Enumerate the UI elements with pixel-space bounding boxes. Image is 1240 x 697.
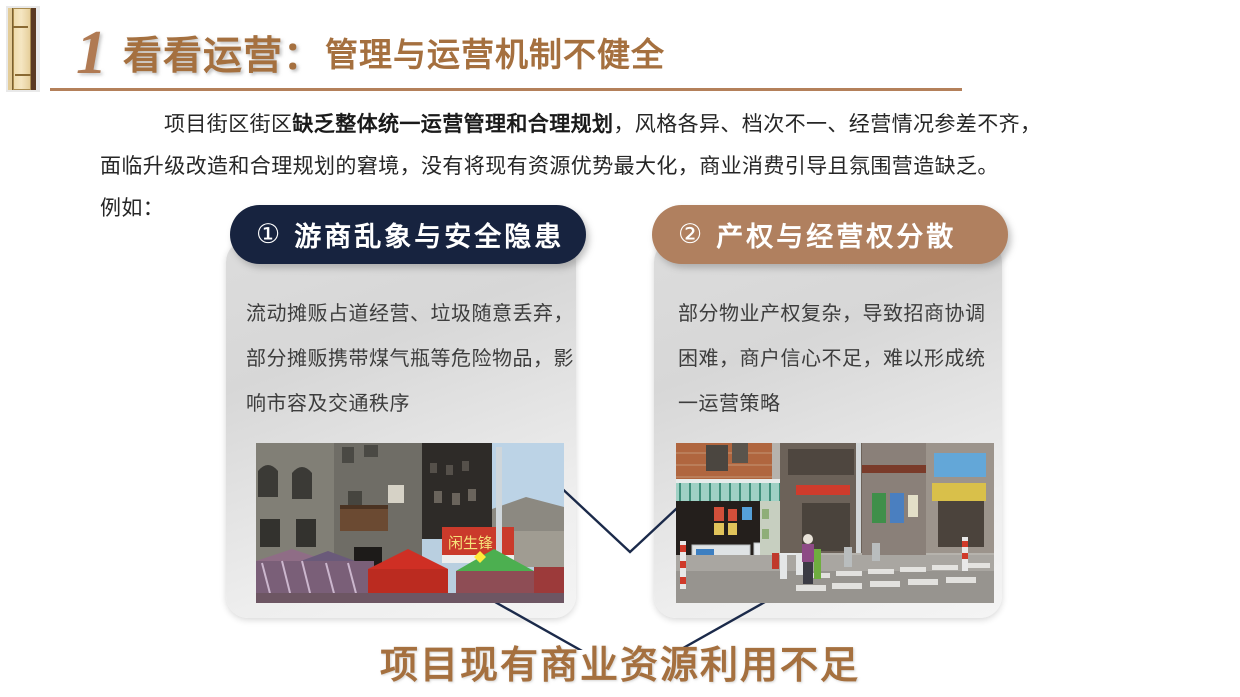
paragraph-line-1: 项目街区街区缺乏整体统一运营管理和合理规划，风格各异、档次不一、经营情况参差不齐…: [100, 104, 1190, 146]
bookmark-ornament-icon: [6, 6, 42, 92]
card-2-photo: [676, 443, 994, 603]
paragraph-line1-a: 项目街区街区: [164, 113, 292, 136]
card-1-heading: 游商乱象与安全隐患: [294, 215, 564, 254]
card-1-header[interactable]: ① 游商乱象与安全隐患: [230, 205, 586, 264]
slide-root: 1 看看运营： 管理与运营机制不健全 项目街区街区缺乏整体统一运营管理和合理规划…: [0, 0, 1240, 697]
bookmark-line-bottom: [15, 74, 31, 76]
conclusion-text: 项目现有商业资源利用不足: [0, 634, 1240, 689]
card-1-body-text: 流动摊贩占道经营、垃圾随意丢弃，部分摊贩携带煤气瓶等危险物品，影响市容及交通秩序: [246, 292, 576, 427]
paragraph-line1-c: ，风格各异、档次不一、经营情况参差不齐，: [613, 113, 1041, 136]
section-numeral: 1: [76, 24, 123, 82]
paragraph-line-2: 面临升级改造和合理规划的窘境，没有将现有资源优势最大化，商业消费引导且氛围营造缺…: [100, 146, 1190, 188]
svg-text:闲生锋: 闲生锋: [448, 534, 493, 552]
card-2-body-text: 部分物业产权复杂，导致招商协调困难，商户信心不足，难以形成统一运营策略: [678, 292, 996, 427]
card-1-number: ①: [230, 221, 294, 248]
card-1-photo: 闲生锋: [256, 443, 564, 603]
title-underline-rule: [50, 88, 962, 91]
bookmark-body: [13, 8, 31, 90]
title-main-text: 看看运营：: [123, 34, 323, 82]
card-2-heading: 产权与经营权分散: [716, 215, 956, 254]
paragraph-line1-bold: 缺乏整体统一运营管理和合理规划: [292, 113, 613, 136]
page-title: 1 看看运营： 管理与运营机制不健全: [76, 16, 665, 82]
bookmark-line-top: [13, 26, 28, 28]
card-2-number: ②: [652, 221, 716, 248]
title-sub-text: 管理与运营机制不健全: [323, 32, 665, 82]
card-2-header[interactable]: ② 产权与经营权分散: [652, 205, 1008, 264]
